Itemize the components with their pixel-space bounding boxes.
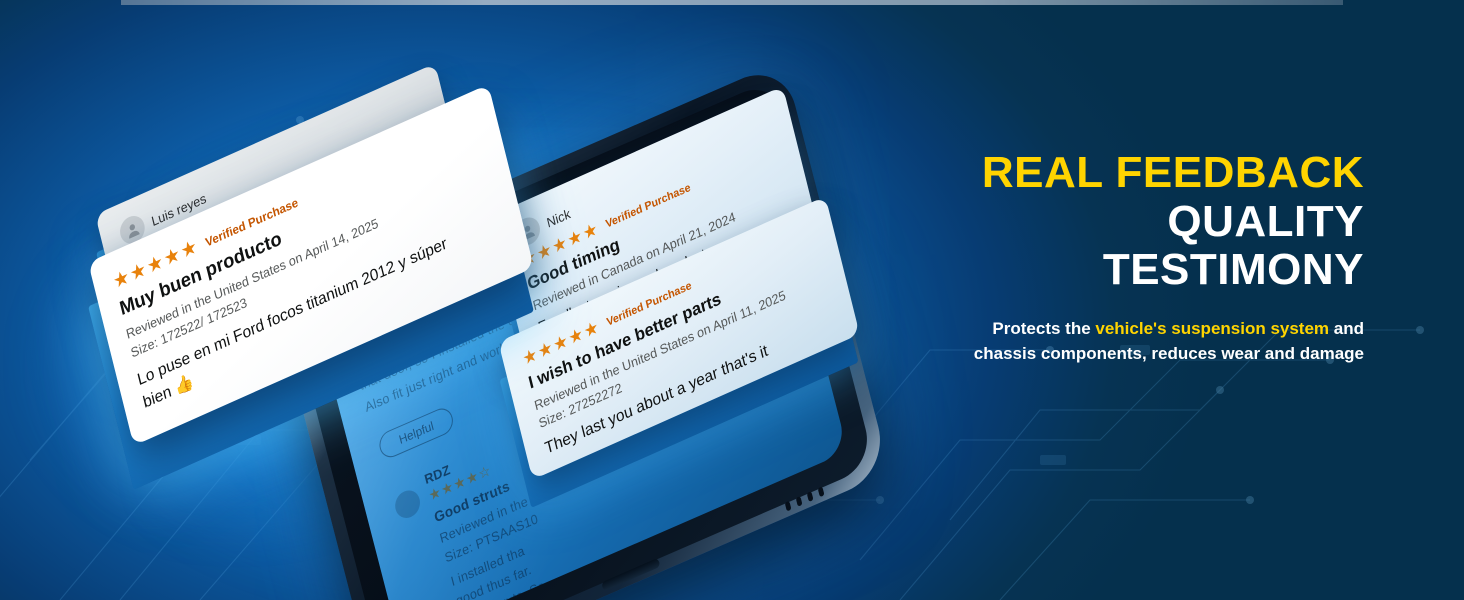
banner-stage: door. Fit just perfect on my trailer doo… [0, 0, 1464, 600]
top-divider-strip [121, 0, 1343, 5]
page-subtitle: QUALITY TESTIMONY [944, 198, 1364, 293]
page-title: REAL FEEDBACK [944, 150, 1364, 196]
description-part1: Protects the [992, 319, 1095, 338]
description-text: Protects the vehicle's suspension system… [944, 317, 1364, 366]
headline-block: REAL FEEDBACK QUALITY TESTIMONY Protects… [944, 150, 1364, 367]
description-highlight: vehicle's suspension system [1095, 319, 1329, 338]
reviewer-name: Nick [545, 205, 572, 230]
